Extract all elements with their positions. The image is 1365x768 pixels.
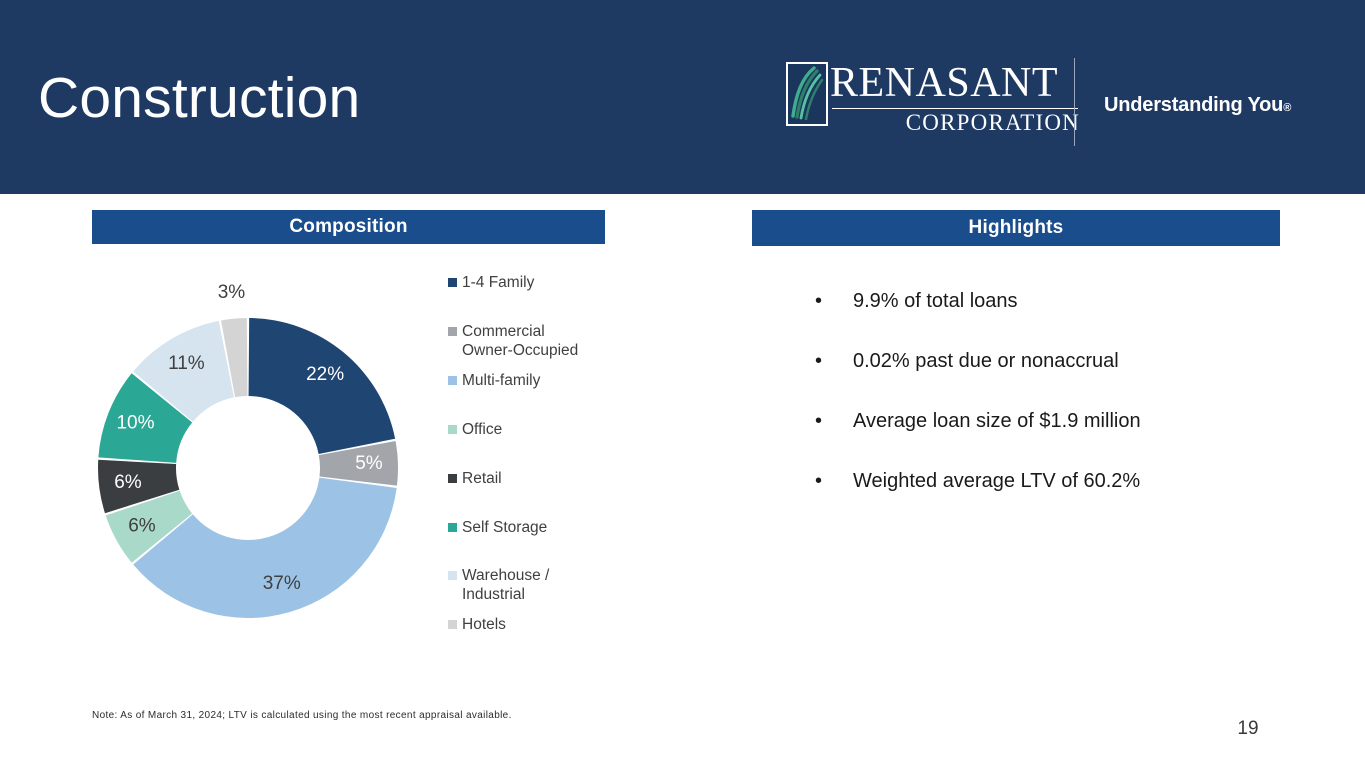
renasant-logo-mark-icon [786,62,828,126]
bullet-icon: • [815,468,853,494]
donut-slice-label: 6% [128,515,156,536]
legend-item[interactable]: Office [448,420,502,439]
donut-slice-label: 22% [306,364,344,385]
legend-item-label: Retail [462,469,502,488]
donut-slice-label: 6% [114,472,142,493]
highlight-item: •0.02% past due or nonaccrual [815,348,1285,374]
highlight-item-text: Weighted average LTV of 60.2% [853,468,1285,494]
legend-item-label: 1-4 Family [462,273,534,292]
brand-tagline-mark: ® [1283,102,1291,114]
highlights-section-header: Highlights [752,210,1280,246]
highlights-bullet-list: •9.9% of total loans•0.02% past due or n… [815,288,1285,528]
donut-slice-label: 37% [263,573,301,594]
legend-item[interactable]: Multi-family [448,371,540,390]
slide-construction: Construction RENASANT CORPORATION Unders… [0,0,1365,768]
legend-swatch-icon [448,376,457,385]
legend-swatch-icon [448,425,457,434]
legend-item[interactable]: Self Storage [448,518,547,537]
legend-item-label: Warehouse / Industrial [462,566,549,604]
legend-item[interactable]: 1-4 Family [448,273,534,292]
highlight-item: •Average loan size of $1.9 million [815,408,1285,434]
legend-swatch-icon [448,278,457,287]
brand-tagline-text: Understanding You [1104,94,1283,116]
legend-swatch-icon [448,523,457,532]
highlights-heading-text: Highlights [969,217,1064,239]
legend-item-label: Multi-family [462,371,540,390]
highlight-item-text: Average loan size of $1.9 million [853,408,1285,434]
donut-slice-label: 5% [355,453,383,474]
legend-item[interactable]: Hotels [448,615,506,634]
legend-item[interactable]: Retail [448,469,502,488]
legend-item[interactable]: Commercial Owner-Occupied [448,322,578,360]
renasant-corporation-text: CORPORATION [830,110,1080,136]
brand-tagline: Understanding You® [1104,94,1291,117]
legend-swatch-icon [448,571,457,580]
legend-item[interactable]: Warehouse / Industrial [448,566,549,604]
legend-item-label: Self Storage [462,518,547,537]
brand-logo-lockup: RENASANT CORPORATION Understanding You® [786,58,1316,146]
legend-swatch-icon [448,620,457,629]
composition-heading-text: Composition [289,216,407,238]
footnote-text: Note: As of March 31, 2024; LTV is calcu… [92,710,512,721]
legend-item-label: Commercial Owner-Occupied [462,322,578,360]
bullet-icon: • [815,288,853,314]
highlight-item-text: 9.9% of total loans [853,288,1285,314]
legend-item-label: Office [462,420,502,439]
logo-divider [1074,58,1075,146]
composition-section-header: Composition [92,210,605,244]
legend-swatch-icon [448,327,457,336]
composition-donut-chart: 22%5%37%6%6%10%11%3% 1-4 FamilyCommercia… [92,258,612,658]
renasant-wordmark-text: RENASANT [830,60,1058,106]
legend-item-label: Hotels [462,615,506,634]
donut-slice-label: 11% [168,353,205,374]
renasant-wordmark: RENASANT CORPORATION [830,58,1090,136]
legend-swatch-icon [448,474,457,483]
donut-slice [249,318,396,454]
donut-slice-label: 3% [218,282,246,303]
page-number: 19 [1228,718,1268,740]
donut-slice-label: 10% [116,412,154,433]
bullet-icon: • [815,408,853,434]
bullet-icon: • [815,348,853,374]
highlight-item: •Weighted average LTV of 60.2% [815,468,1285,494]
highlight-item: •9.9% of total loans [815,288,1285,314]
highlight-item-text: 0.02% past due or nonaccrual [853,348,1285,374]
wordmark-rule [832,108,1078,109]
donut-slice-group [98,318,398,618]
page-title: Construction [38,62,360,134]
